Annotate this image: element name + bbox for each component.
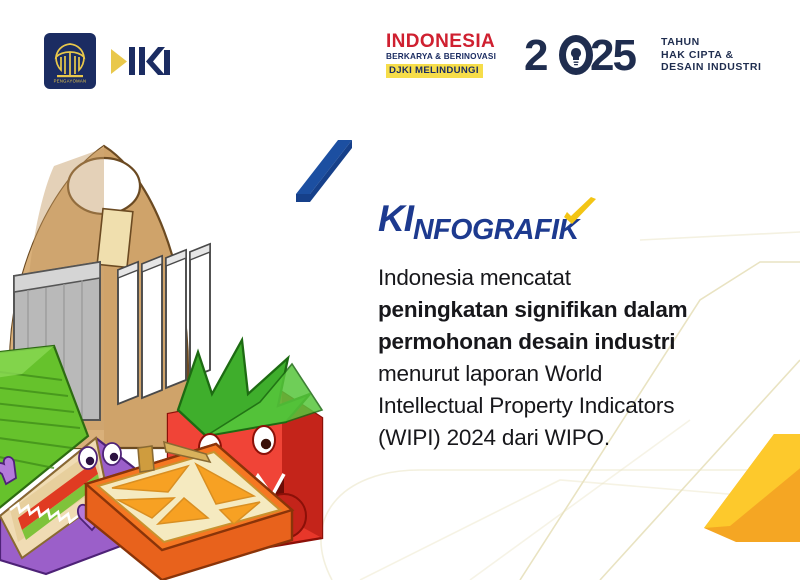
blue-parallelogram-shape [268, 132, 354, 212]
brand-ki-text: KI [378, 200, 413, 237]
campaign-and-year: INDONESIA BERKARYA & BERINOVASI DJKI MEL… [386, 32, 761, 78]
campaign-subtitle: BERKARYA & BERINOVASI [386, 53, 496, 61]
pengayoman-logo: PENGAYOMAN [44, 33, 96, 89]
check-swoosh-icon [561, 197, 599, 227]
year-2025-icon: 2 25 [524, 32, 654, 78]
campaign-title: INDONESIA [386, 32, 495, 51]
djki-letters-icon [108, 41, 172, 81]
campaign-block: INDONESIA BERKARYA & BERINOVASI DJKI MEL… [386, 32, 496, 78]
djki-wordmark [108, 41, 172, 81]
description-line-2: peningkatan signifikan dalam [378, 294, 778, 326]
campaign-band: DJKI MELINDUNGI [386, 64, 483, 78]
description-paragraph: Indonesia mencatat peningkatan signifika… [378, 262, 778, 454]
description-line-5: Intellectual Property Indicators [378, 390, 778, 422]
year-caption-line3: DESAIN INDUSTRI [661, 61, 761, 73]
brand-infografik-text: NFOGRAFIK [413, 216, 579, 246]
year-caption-line2: HAK CIPTA & [661, 49, 761, 61]
year-badge: 2 25 TAHUN HAK CIPTA & [524, 32, 761, 78]
content-block: KI NFOGRAFIK Indonesia mencatat peningka… [378, 200, 778, 454]
infographic-canvas: PENGAYOMAN INDONESIA BERKARYA & BERINOVA… [0, 0, 800, 580]
svg-text:PENGAYOMAN: PENGAYOMAN [54, 78, 87, 83]
description-line-1: Indonesia mencatat [378, 262, 778, 294]
logo-group: PENGAYOMAN [44, 33, 172, 89]
pengayoman-mark-icon: PENGAYOMAN [48, 37, 92, 85]
description-line-3: permohonan desain industri [378, 326, 778, 358]
ki-infografik-title: KI NFOGRAFIK [378, 200, 778, 246]
description-line-4: menurut laporan World [378, 358, 778, 390]
header: PENGAYOMAN INDONESIA BERKARYA & BERINOVA… [0, 0, 800, 118]
year-caption: TAHUN HAK CIPTA & DESAIN INDUSTRI [661, 36, 761, 73]
description-line-6: (WIPI) 2024 dari WIPO. [378, 422, 778, 454]
svg-text:2: 2 [524, 32, 547, 78]
year-caption-line1: TAHUN [661, 36, 761, 48]
svg-text:25: 25 [590, 32, 636, 78]
